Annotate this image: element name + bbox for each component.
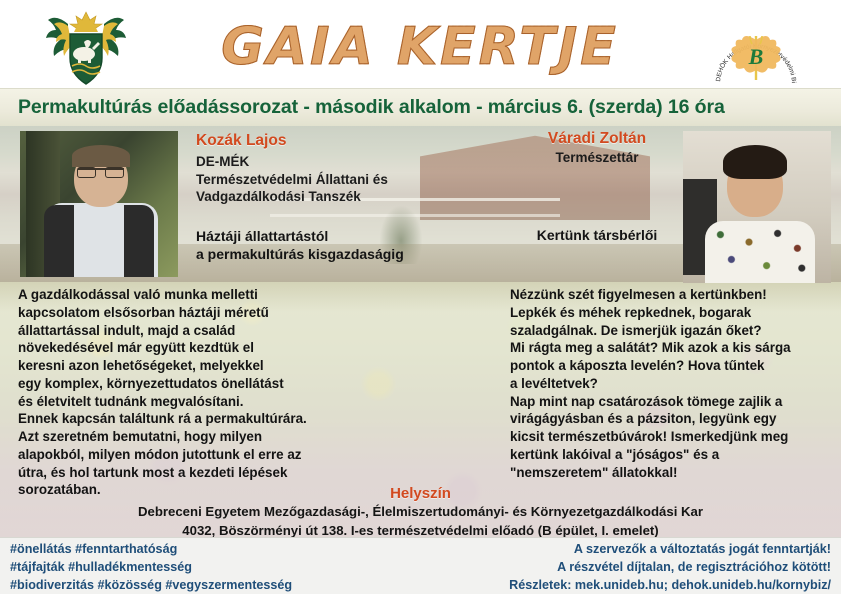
footer-hashtags: #önellátás #fenntarthatóság #tájfajták #… [10,541,292,594]
photo-vest-left [44,205,74,277]
venue-block: Helyszín Debreceni Egyetem Mezőgazdasági… [0,485,841,540]
speaker-department-line1-left: Természetvédelmi Állattani és [196,171,496,189]
photo-insect-pattern [705,221,815,283]
footer-contact-info: A szervezők a változtatás jogát fenntart… [509,541,831,594]
venue-heading: Helyszín [0,485,841,502]
photo-glasses-left-lens [77,167,96,178]
photo-vest-right [124,205,154,277]
speaker-block-left: Kozák Lajos DE-MÉK Természetvédelmi Álla… [196,132,496,264]
speaker-department-line2-left: Vadgazdálkodási Tanszék [196,188,496,206]
poster-root: GAIA KERTJE DEHÖK Hallgatói Környezetvéd… [0,0,841,594]
poster-main-title: GAIA KERTJE [150,8,690,86]
abstract-text-left: A gazdálkodással való munka melletti kap… [18,286,338,499]
event-title-bar: Permakultúrás előadássorozat - második a… [0,88,841,126]
photo-hair [72,145,130,167]
venue-address-line1: Debreceni Egyetem Mezőgazdasági-, Élelmi… [0,503,841,522]
poster-main-title-text: GAIA KERTJE [221,17,618,77]
dehok-oak-leaf-logo-icon: DEHÖK Hallgatói Környezetvédelmi Bizotts… [706,6,806,90]
speaker-affiliation-short-right: Természettár [512,149,682,167]
speaker-topic-line1-right: Kertünk társbérlői [512,227,682,245]
svg-text:B: B [748,44,764,69]
photo-glasses-right-lens [105,167,124,178]
speaker-topic-line1-left: Háztáji állattartástól [196,228,496,246]
poster-footer: #önellátás #fenntarthatóság #tájfajták #… [0,537,841,594]
poster-header: GAIA KERTJE DEHÖK Hallgatói Környezetvéd… [0,0,841,88]
speaker-photo-kozak-lajos [20,131,178,277]
photo-hair [723,145,787,179]
speaker-name-left: Kozák Lajos [196,132,496,150]
speaker-photo-varadi-zoltan [683,131,831,283]
abstract-text-right: Nézzünk szét figyelmesen a kertünkben! L… [510,286,835,481]
university-coat-of-arms-icon [38,6,134,88]
speaker-topic-line2-left: a permakultúrás kisgazdaságig [196,246,496,264]
speaker-name-right: Váradi Zoltán [512,130,682,148]
event-title-text: Permakultúrás előadássorozat - második a… [0,96,725,119]
speaker-block-right: Váradi Zoltán Természettár Kertünk társb… [512,130,682,245]
speaker-affiliation-short-left: DE-MÉK [196,153,496,171]
